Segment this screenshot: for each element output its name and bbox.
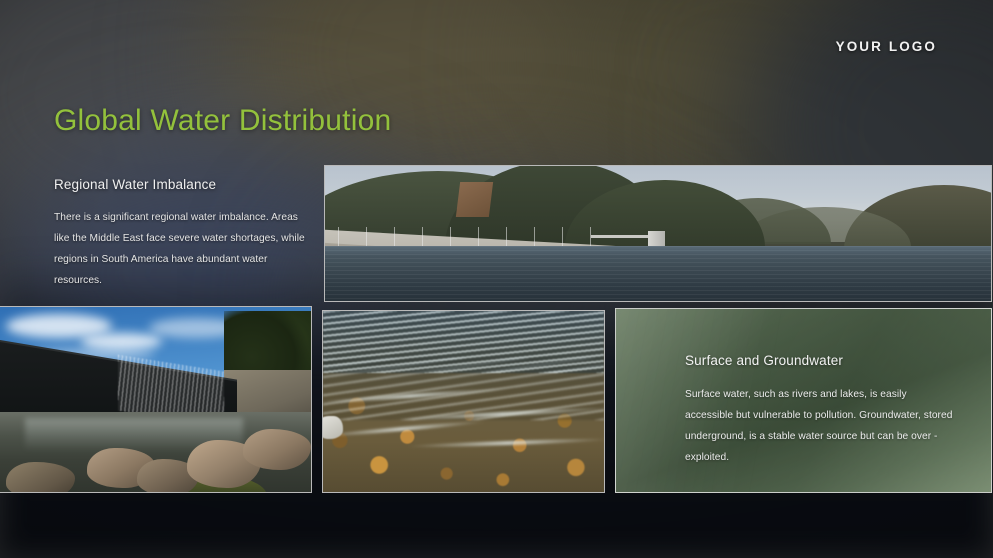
regional-imbalance-body: There is a significant regional water im…	[54, 207, 316, 291]
shallow-water-pebbles-photo	[322, 310, 605, 493]
shallow-water-white-stone	[323, 416, 343, 440]
regional-imbalance-heading: Regional Water Imbalance	[54, 177, 316, 192]
spillway-boulder	[6, 462, 74, 492]
reservoir-dam-photo	[324, 165, 992, 302]
reservoir-light-poles	[338, 227, 618, 246]
spillway-dam-photo	[0, 306, 312, 493]
spillway-boulder	[243, 429, 311, 470]
reservoir-water-ripples	[325, 246, 991, 301]
surface-groundwater-panel: Surface and Groundwater Surface water, s…	[615, 308, 992, 493]
page-title: Global Water Distribution	[54, 104, 391, 138]
surface-groundwater-heading: Surface and Groundwater	[685, 353, 953, 368]
spillway-trees	[224, 311, 311, 378]
reservoir-rock-face	[456, 182, 494, 217]
logo-text: YOUR LOGO	[836, 39, 937, 54]
shallow-water-far-ripples	[323, 311, 604, 373]
slide-canvas: YOUR LOGO Global Water Distribution Regi…	[0, 0, 993, 558]
regional-imbalance-block: Regional Water Imbalance There is a sign…	[54, 177, 316, 291]
surface-groundwater-body: Surface water, such as rivers and lakes,…	[685, 384, 953, 468]
